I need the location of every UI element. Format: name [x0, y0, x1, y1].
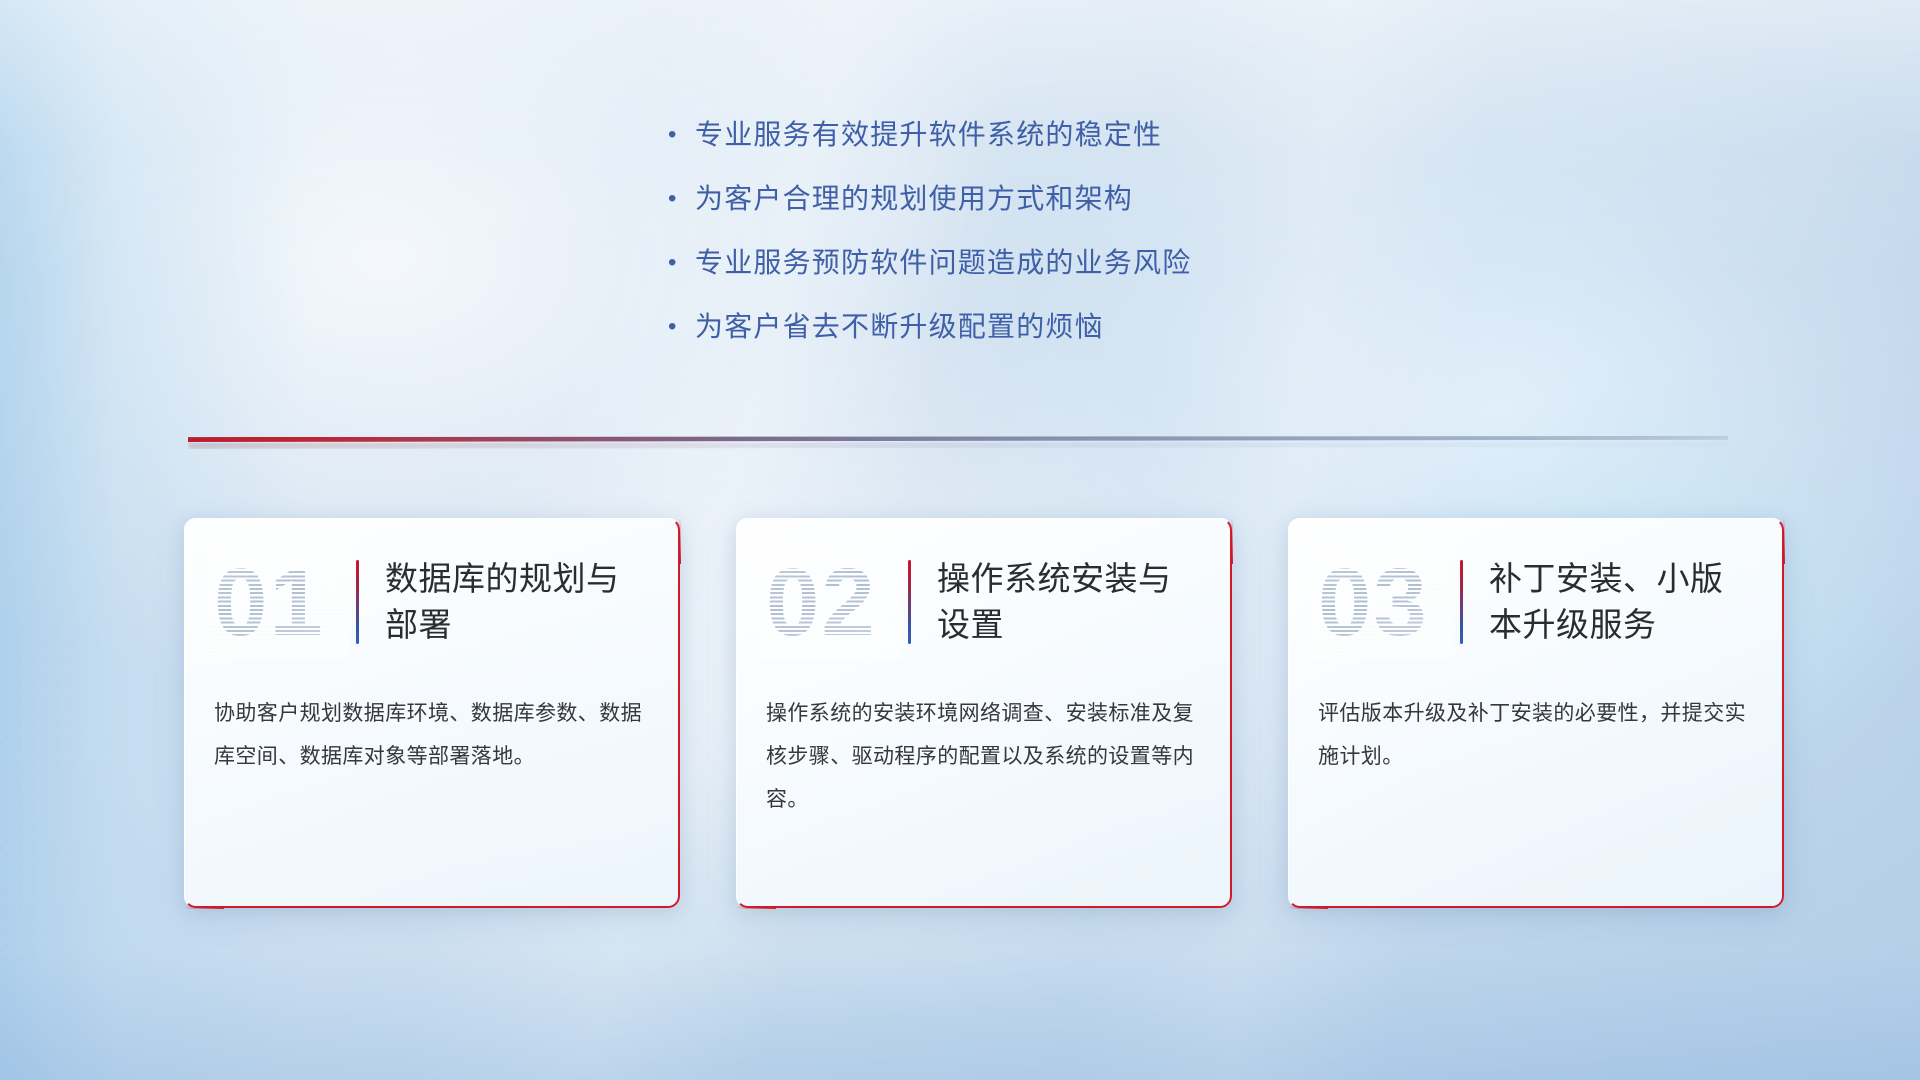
background-dot-texture	[0, 640, 120, 970]
card-header: 03 补丁安装、小版本升级服务	[1288, 518, 1784, 686]
service-card-03[interactable]: 03 补丁安装、小版本升级服务 评估版本升级及补丁安装的必要性，并提交实施计划。	[1288, 518, 1784, 908]
bullet-marker-icon: •	[665, 244, 695, 282]
divider-shadow	[188, 442, 1728, 449]
bullet-text-3: 专业服务预防软件问题造成的业务风险	[695, 244, 1191, 282]
card-gradient-bar	[908, 560, 911, 644]
bullet-marker-icon: •	[665, 308, 695, 346]
divider-gradient-line	[188, 436, 1728, 442]
card-number-watermark: 02	[766, 550, 896, 655]
service-card-list: 01 数据库的规划与部署 协助客户规划数据库环境、数据库参数、数据库空间、数据库…	[184, 518, 1784, 918]
card-number-text: 03	[1318, 550, 1448, 655]
card-body-text: 协助客户规划数据库环境、数据库参数、数据库空间、数据库对象等部署落地。	[184, 686, 680, 778]
card-title: 操作系统安装与设置	[937, 556, 1204, 648]
card-body-text: 评估版本升级及补丁安装的必要性，并提交实施计划。	[1288, 686, 1784, 778]
bullet-list: • 专业服务有效提升软件系统的稳定性 • 为客户合理的规划使用方式和架构 • 专…	[665, 116, 1445, 372]
bullet-marker-icon: •	[665, 116, 695, 154]
bullet-item-1: • 专业服务有效提升软件系统的稳定性	[665, 116, 1445, 154]
bullet-item-4: • 为客户省去不断升级配置的烦恼	[665, 308, 1445, 346]
card-header: 02 操作系统安装与设置	[736, 518, 1232, 686]
bullet-text-1: 专业服务有效提升软件系统的稳定性	[695, 116, 1162, 154]
card-gradient-bar	[1460, 560, 1463, 644]
card-title: 数据库的规划与部署	[385, 556, 652, 648]
service-card-02[interactable]: 02 操作系统安装与设置 操作系统的安装环境网络调查、安装标准及复核步骤、驱动程…	[736, 518, 1232, 908]
bullet-item-3: • 专业服务预防软件问题造成的业务风险	[665, 244, 1445, 282]
bullet-item-2: • 为客户合理的规划使用方式和架构	[665, 180, 1445, 218]
card-number-text: 01	[214, 550, 344, 655]
card-number-watermark: 03	[1318, 550, 1448, 655]
bullet-text-4: 为客户省去不断升级配置的烦恼	[695, 308, 1104, 346]
card-title: 补丁安装、小版本升级服务	[1489, 556, 1756, 648]
card-number-text: 02	[766, 550, 896, 655]
card-number-watermark: 01	[214, 550, 344, 655]
card-body-text: 操作系统的安装环境网络调查、安装标准及复核步骤、驱动程序的配置以及系统的设置等内…	[736, 686, 1232, 821]
bullet-marker-icon: •	[665, 180, 695, 218]
bullet-text-2: 为客户合理的规划使用方式和架构	[695, 180, 1133, 218]
card-gradient-bar	[356, 560, 359, 644]
service-card-01[interactable]: 01 数据库的规划与部署 协助客户规划数据库环境、数据库参数、数据库空间、数据库…	[184, 518, 680, 908]
section-divider	[188, 432, 1728, 450]
card-header: 01 数据库的规划与部署	[184, 518, 680, 686]
